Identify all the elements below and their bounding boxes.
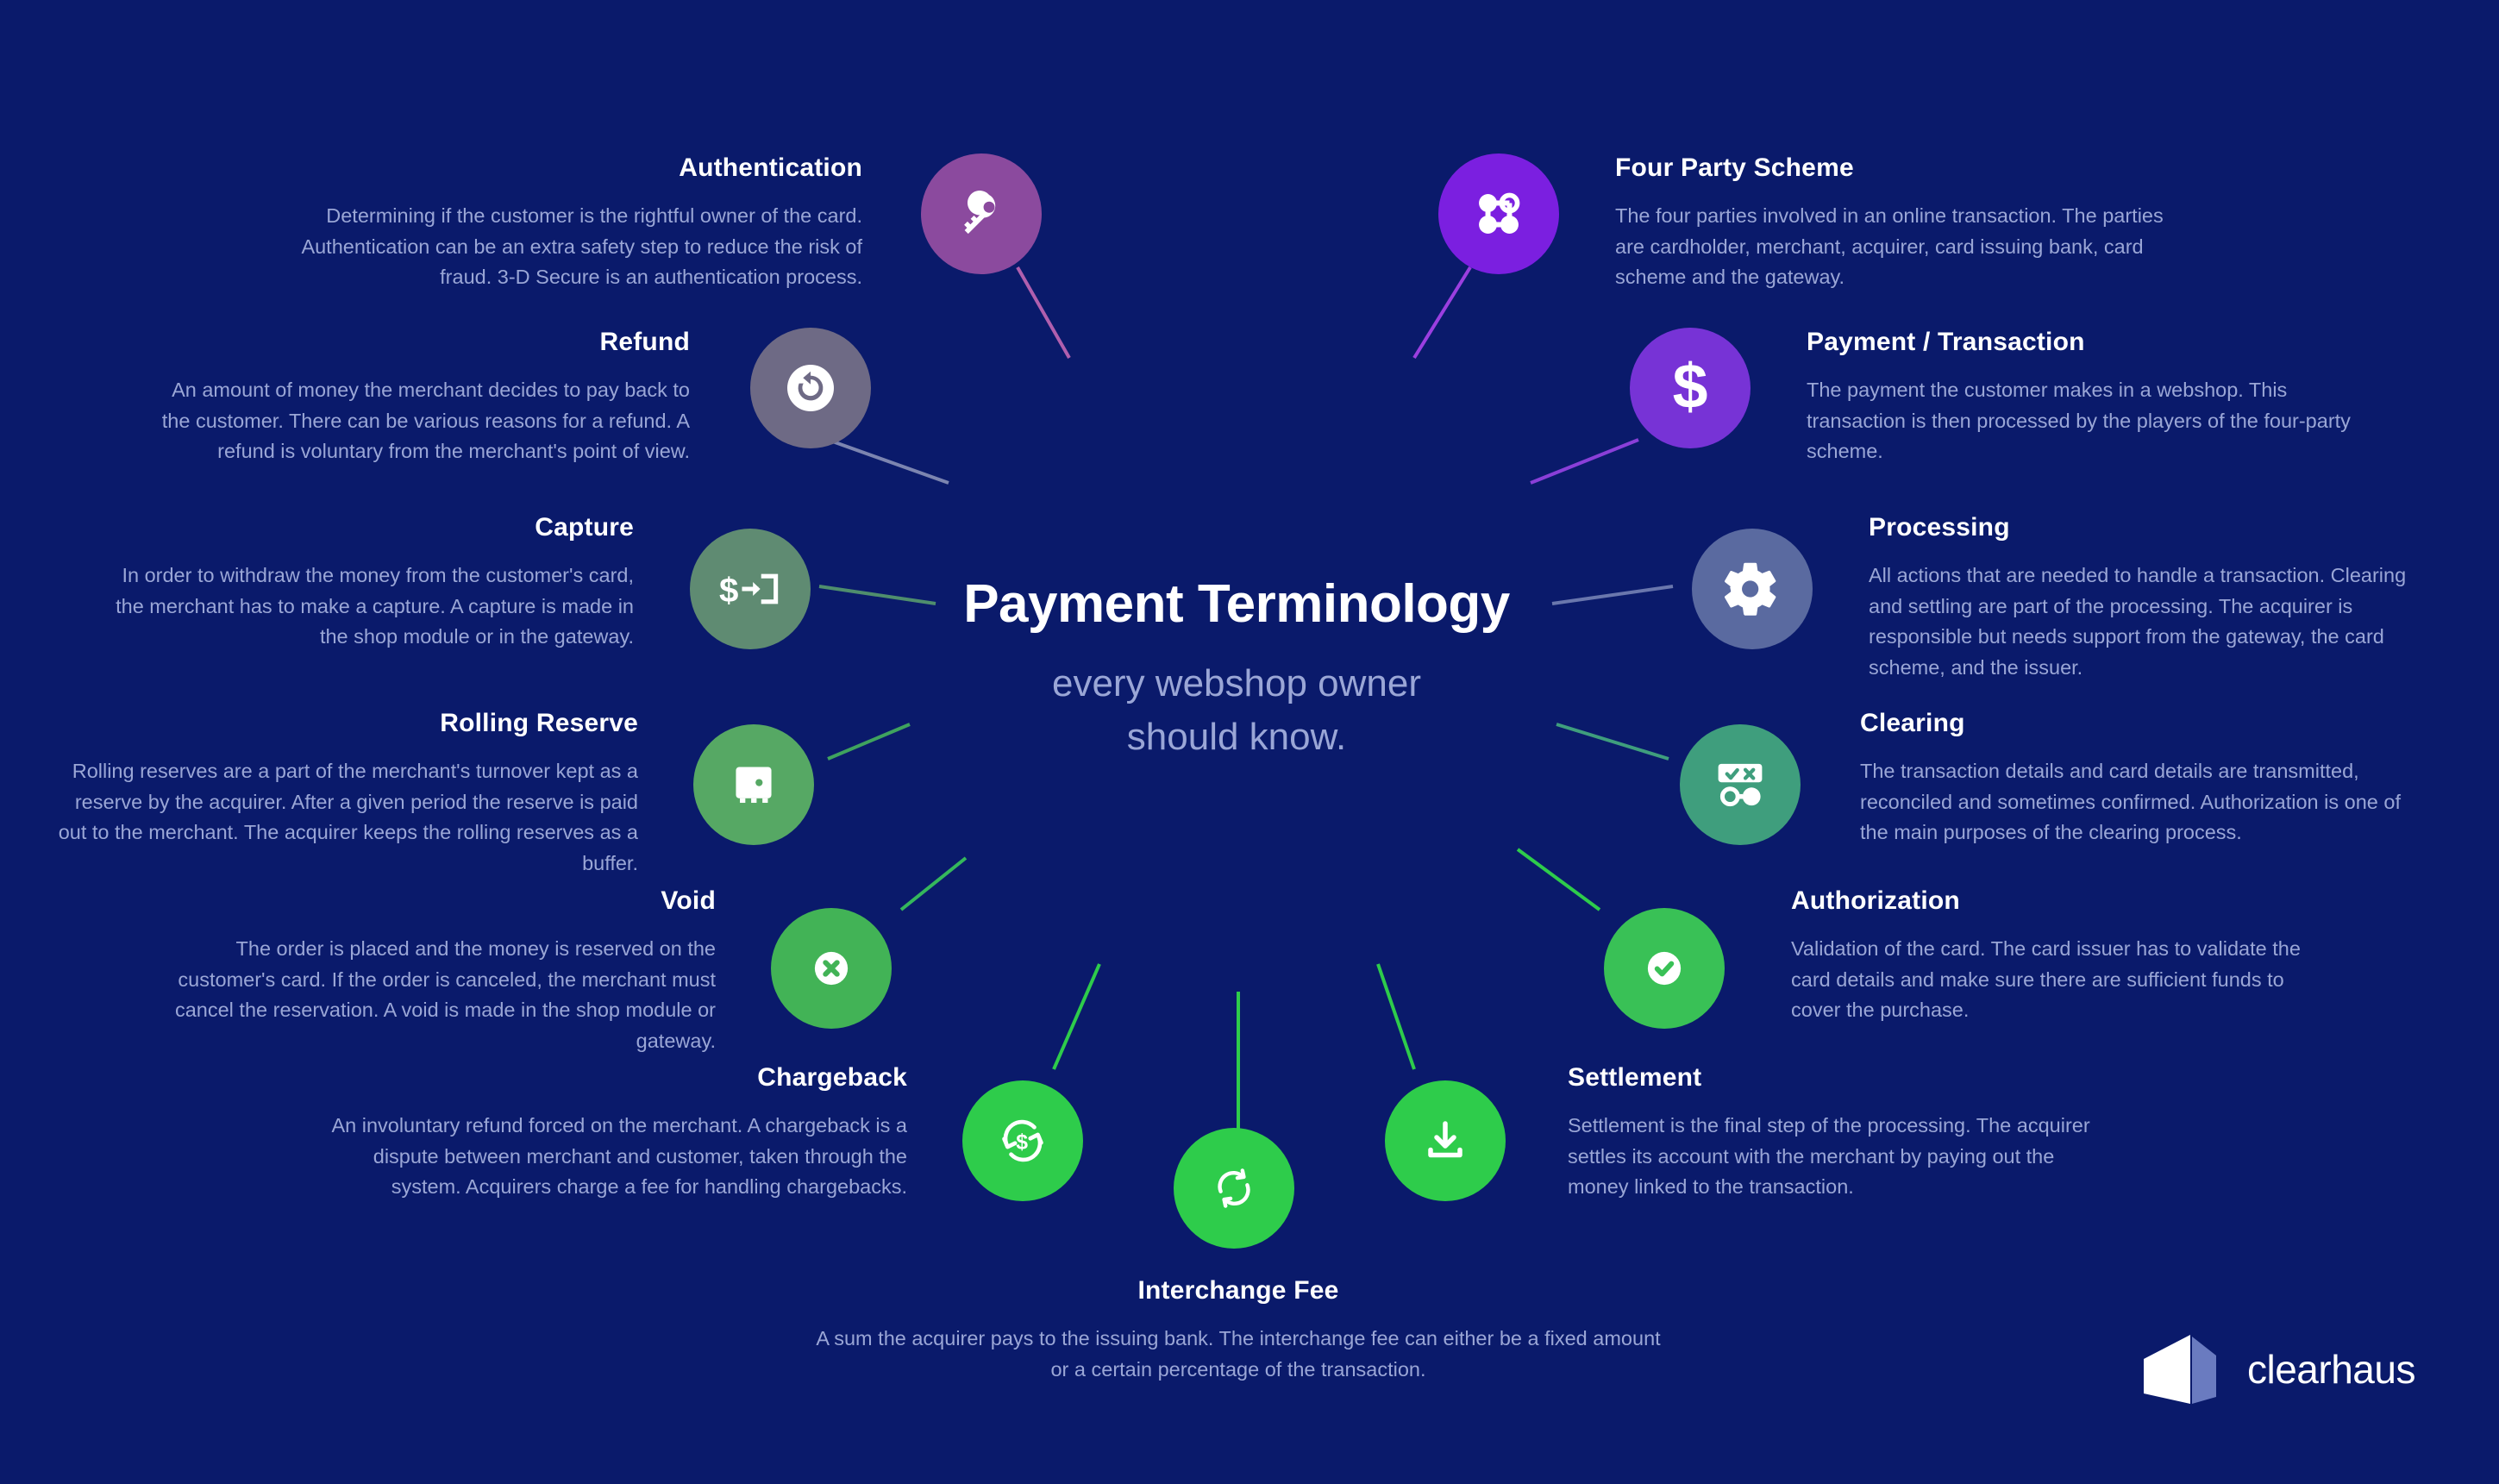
gear-icon [1724,560,1781,617]
term-title: Four Party Scheme [1615,153,2167,182]
term-payment-transaction: Payment / Transaction The payment the cu… [1807,328,2358,467]
node-authentication[interactable] [921,153,1042,274]
node-clearing[interactable] [1680,724,1801,845]
term-description: An amount of money the merchant decides … [155,375,690,467]
term-title: Interchange Fee [807,1276,1669,1305]
infographic-canvas: Authentication Determining if the custom… [0,0,2499,1484]
check-cross-nodes-icon [1712,758,1769,811]
svg-text:$: $ [1673,354,1708,422]
clearhaus-cube-logo-icon [2137,1326,2223,1412]
term-title: Chargeback [328,1063,907,1092]
term-processing: Processing All actions that are needed t… [1869,513,2438,684]
node-interchange-fee[interactable] [1174,1128,1294,1249]
node-chargeback[interactable]: $ [962,1080,1083,1201]
safe-vault-icon [728,760,780,810]
key-icon [955,187,1008,241]
term-title: Refund [155,328,690,356]
term-description: Rolling reserves are a part of the merch… [52,756,638,880]
term-description: Settlement is the final step of the proc… [1568,1111,2120,1203]
svg-text:$: $ [719,571,738,610]
term-capture: Capture In order to withdraw the money f… [95,513,634,653]
term-rolling-reserve: Rolling Reserve Rolling reserves are a p… [52,709,638,880]
node-payment-transaction[interactable]: $ [1630,328,1751,448]
term-title: Capture [95,513,634,542]
term-description: A sum the acquirer pays to the issuing b… [807,1324,1669,1385]
term-title: Authentication [285,153,862,182]
node-four-party-scheme[interactable] [1438,153,1559,274]
term-interchange-fee: Interchange Fee A sum the acquirer pays … [807,1276,1669,1385]
term-title: Settlement [1568,1063,2120,1092]
term-description: The payment the customer makes in a webs… [1807,375,2358,467]
term-description: Determining if the customer is the right… [285,201,862,293]
term-four-party-scheme: Four Party Scheme The four parties invol… [1615,153,2167,293]
node-processing[interactable] [1692,529,1813,649]
term-title: Clearing [1860,709,2412,737]
svg-text:$: $ [1016,1130,1028,1154]
term-void: Void The order is placed and the money i… [155,886,716,1057]
term-settlement: Settlement Settlement is the final step … [1568,1063,2120,1203]
term-description: The four parties involved in an online t… [1615,201,2167,293]
term-refund: Refund An amount of money the merchant d… [155,328,690,467]
download-tray-icon [1419,1115,1471,1167]
brand-logo[interactable]: clearhaus [2137,1326,2415,1412]
term-chargeback: Chargeback An involuntary refund forced … [328,1063,907,1203]
dollar-sign-icon: $ [1669,354,1711,422]
page-subtitle-line-2: should know. [849,711,1625,764]
term-description: The transaction details and card details… [1860,756,2412,848]
node-void[interactable] [771,908,892,1029]
page-title: Payment Terminology [849,573,1625,635]
term-clearing: Clearing The transaction details and car… [1860,709,2412,848]
node-capture[interactable]: $ [690,529,811,649]
term-description: Validation of the card. The card issuer … [1791,934,2326,1026]
term-title: Payment / Transaction [1807,328,2358,356]
term-description: An involuntary refund forced on the merc… [328,1111,907,1203]
four-node-network-icon [1469,185,1528,243]
term-description: In order to withdraw the money from the … [95,560,634,653]
term-title: Void [155,886,716,915]
dollar-into-box-icon: $ [719,562,781,616]
sync-arrows-icon [1210,1164,1258,1212]
term-description: The order is placed and the money is res… [155,934,716,1057]
node-settlement[interactable] [1385,1080,1506,1201]
term-title: Processing [1869,513,2438,542]
node-authorization[interactable] [1604,908,1725,1029]
node-rolling-reserve[interactable] [693,724,814,845]
page-subtitle-line-1: every webshop owner [849,657,1625,711]
term-title: Rolling Reserve [52,709,638,737]
node-refund[interactable] [750,328,871,448]
center-heading-block: Payment Terminology every webshop owner … [849,573,1625,765]
cancel-x-circle-icon [805,942,858,995]
term-authentication: Authentication Determining if the custom… [285,153,862,293]
term-title: Authorization [1791,886,2326,915]
dollar-refresh-icon: $ [994,1112,1051,1169]
brand-name: clearhaus [2247,1346,2415,1393]
check-circle-icon [1638,942,1691,995]
term-description: All actions that are needed to handle a … [1869,560,2438,684]
refund-rotate-icon [780,357,842,419]
term-authorization: Authorization Validation of the card. Th… [1791,886,2326,1026]
